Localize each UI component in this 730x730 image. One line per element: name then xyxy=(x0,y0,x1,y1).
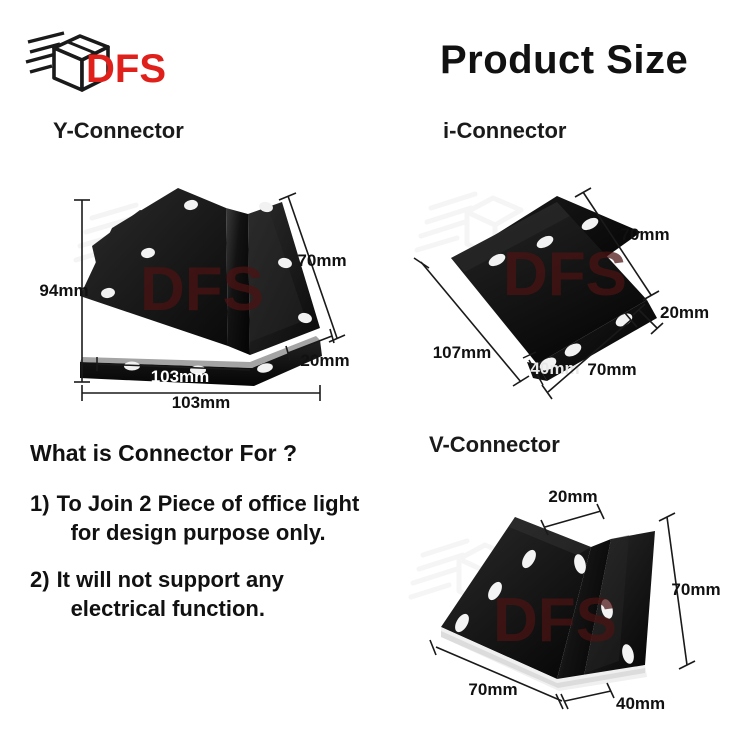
page-title: Product Size xyxy=(440,38,688,83)
info-item-number: 2) xyxy=(30,565,50,623)
dfs-logo-svg: DFS xyxy=(24,26,174,96)
v-connector-drawing: DFS 20mm 70mm xyxy=(405,464,730,722)
dimension-label-i-flange-depth: 40mm xyxy=(530,359,579,378)
watermark-text: DFS xyxy=(140,255,264,324)
dimension-label-i-thickness: 20mm xyxy=(660,303,709,322)
figure-v-connector: DFS 20mm 70mm xyxy=(405,464,730,722)
dfs-logo-text: DFS xyxy=(86,47,166,91)
info-item-line2: for design purpose only. xyxy=(57,518,410,547)
dfs-logo: DFS xyxy=(24,26,174,96)
dimension-label-i-diagonal: 107mm xyxy=(433,343,492,362)
dimension-label-v-top-thickness: 20mm xyxy=(548,487,597,506)
dimension-label-y-height: 94mm xyxy=(39,281,88,300)
dimension-label-v-base-depth: 40mm xyxy=(616,694,665,713)
dimension-label-i-bottom: 70mm xyxy=(587,360,636,379)
connector-info-block: What is Connector For ? 1) To Join 2 Pie… xyxy=(30,440,410,670)
info-item-body: To Join 2 Piece of office light for desi… xyxy=(57,489,410,547)
watermark-text: DFS xyxy=(493,586,617,655)
dimension-label-v-side: 70mm xyxy=(671,580,720,599)
info-item-line1: To Join 2 Piece of office light xyxy=(57,491,360,516)
dimension-label-y-thickness: 20mm xyxy=(300,351,349,370)
watermark-text: DFS xyxy=(503,240,627,309)
info-item-line2: electrical function. xyxy=(57,594,410,623)
info-item-body: It will not support any electrical funct… xyxy=(57,565,410,623)
panel-title-y-connector: Y-Connector xyxy=(53,118,184,144)
dimension-label-y-flange: 103mm xyxy=(151,367,210,386)
dimension-label-i-top: 70mm xyxy=(620,225,669,244)
dimension-label-v-base-width: 70mm xyxy=(468,680,517,699)
product-panel-y-connector: Y-Connector xyxy=(20,118,380,408)
figure-y-connector: DFS 94mm 70mm xyxy=(20,150,380,408)
y-connector-drawing: DFS 94mm 70mm xyxy=(20,150,380,408)
info-item: 2) It will not support any electrical fu… xyxy=(30,565,410,623)
panel-title-v-connector: V-Connector xyxy=(429,432,560,458)
product-size-infographic: DFS Product Size Y-Connector xyxy=(0,0,730,730)
i-connector-drawing: DFS 107mm 70mm xyxy=(405,150,730,408)
info-item: 1) To Join 2 Piece of office light for d… xyxy=(30,489,410,547)
dimension-label-y-wing: 70mm xyxy=(297,251,346,270)
info-item-number: 1) xyxy=(30,489,50,547)
product-panel-v-connector: V-Connector xyxy=(405,432,730,712)
figure-i-connector: DFS 107mm 70mm xyxy=(405,150,730,408)
dimension-v-top-thickness xyxy=(541,504,604,535)
info-heading: What is Connector For ? xyxy=(30,440,410,467)
panel-title-i-connector: i-Connector xyxy=(443,118,566,144)
dimension-label-y-overall: 103mm xyxy=(172,393,231,408)
info-item-line1: It will not support any xyxy=(57,567,284,592)
product-panel-i-connector: i-Connector xyxy=(405,118,730,408)
